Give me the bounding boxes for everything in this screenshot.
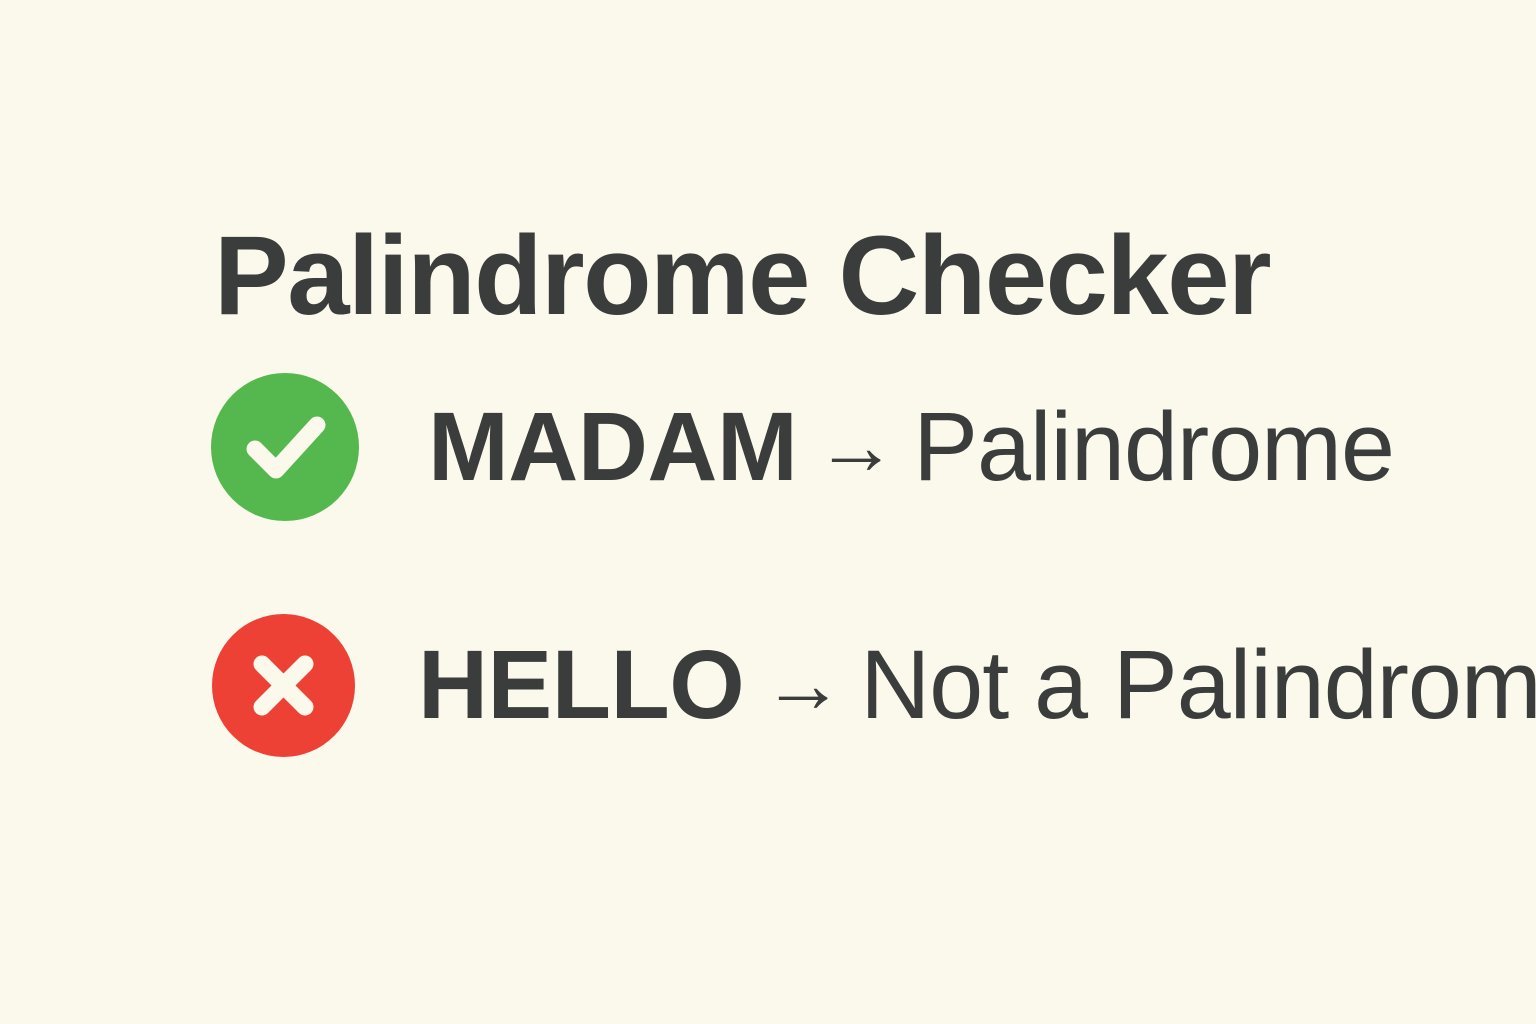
result-text: HELLO → Not a Palindrome <box>418 629 1536 741</box>
x-circle-icon <box>212 614 355 757</box>
check-circle-icon <box>211 373 359 521</box>
result-verdict: Palindrome <box>913 391 1394 503</box>
result-text: MADAM → Palindrome <box>428 391 1394 503</box>
result-row: MADAM → Palindrome <box>0 367 1394 527</box>
palindrome-checker-screen: Palindrome Checker MADAM → Palindrome HE… <box>0 0 1536 1024</box>
result-term: MADAM <box>428 391 797 503</box>
page-title: Palindrome Checker <box>214 217 1270 335</box>
arrow-right-icon: → <box>815 400 897 494</box>
result-term: HELLO <box>418 629 744 741</box>
arrow-right-icon: → <box>762 638 844 732</box>
result-verdict: Not a Palindrome <box>860 629 1536 741</box>
result-row: HELLO → Not a Palindrome <box>0 605 1536 765</box>
